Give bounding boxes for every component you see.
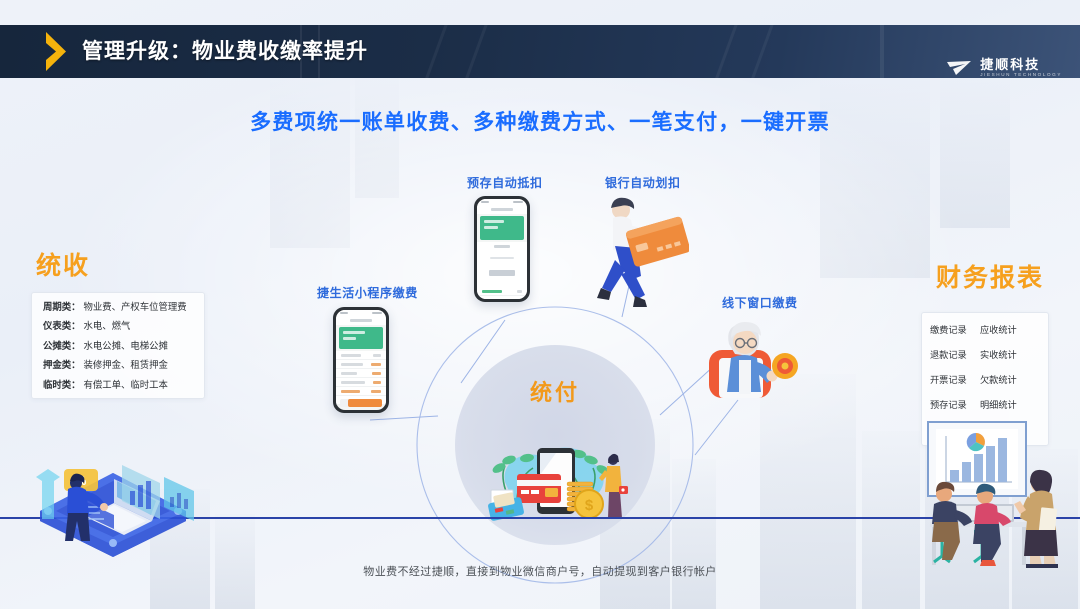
phone-mock-prepaid	[474, 196, 530, 302]
data-platform-illustration: %	[18, 425, 208, 560]
node-label-mini-program: 捷生活小程序缴费	[317, 284, 418, 301]
node-label-prepaid-deduct: 预存自动抵扣	[467, 174, 543, 191]
header-bar: 管理升级：物业费收缴率提升 捷顺科技 JIESHUN TECHNOLOGY	[0, 25, 1080, 78]
logo-text-en: JIESHUN TECHNOLOGY	[980, 73, 1062, 78]
payment-illustration: $	[483, 430, 631, 526]
brand-logo: 捷顺科技 JIESHUN TECHNOLOGY	[947, 58, 1062, 78]
chevron-right-icon	[44, 32, 72, 71]
table-row: 预存记录 明细统计	[930, 397, 1040, 411]
elderly-person-payment-illustration	[705, 310, 805, 400]
main-heading: 多费项统一账单收费、多种缴费方式、一笔支付，一键开票	[0, 106, 1080, 136]
table-row: 开票记录 欠款统计	[930, 372, 1040, 386]
logo-text-cn: 捷顺科技	[980, 58, 1062, 71]
jieshun-mark-icon	[947, 60, 973, 76]
table-row: 押金类： 装修押金、租赁押金	[43, 360, 194, 369]
svg-text:$: $	[585, 497, 594, 514]
table-row: 缴费记录 应收统计	[930, 322, 1040, 336]
table-row: 仪表类： 水电、燃气	[43, 321, 194, 330]
node-label-bank-deduct: 银行自动划扣	[605, 174, 681, 191]
footer-caption: 物业费不经过捷顺，直接到物业微信商户号，自动提现到客户银行帐户	[0, 563, 1080, 579]
right-panel-heading: 财务报表	[936, 258, 1044, 294]
hub-label: 统付	[455, 375, 655, 407]
bank-card-person-illustration	[585, 196, 689, 308]
node-label-offline-counter: 线下窗口缴费	[722, 294, 798, 311]
meeting-report-illustration	[890, 418, 1080, 568]
table-row: 公摊类： 水电公摊、电梯公摊	[43, 341, 194, 350]
table-row: 周期类： 物业费、产权车位管理费	[43, 302, 194, 311]
fee-types-card: 周期类： 物业费、产权车位管理费 仪表类： 水电、燃气 公摊类： 水电公摊、电梯…	[31, 292, 205, 399]
table-row: 退款记录 实收统计	[930, 347, 1040, 361]
left-panel-heading: 统收	[36, 246, 90, 282]
page-title: 管理升级：物业费收缴率提升	[82, 25, 368, 78]
slide: 管理升级：物业费收缴率提升 捷顺科技 JIESHUN TECHNOLOGY 多费…	[0, 0, 1080, 609]
phone-mock-mini-program	[333, 307, 389, 413]
table-row: 临时类： 有偿工单、临时工本	[43, 380, 194, 389]
